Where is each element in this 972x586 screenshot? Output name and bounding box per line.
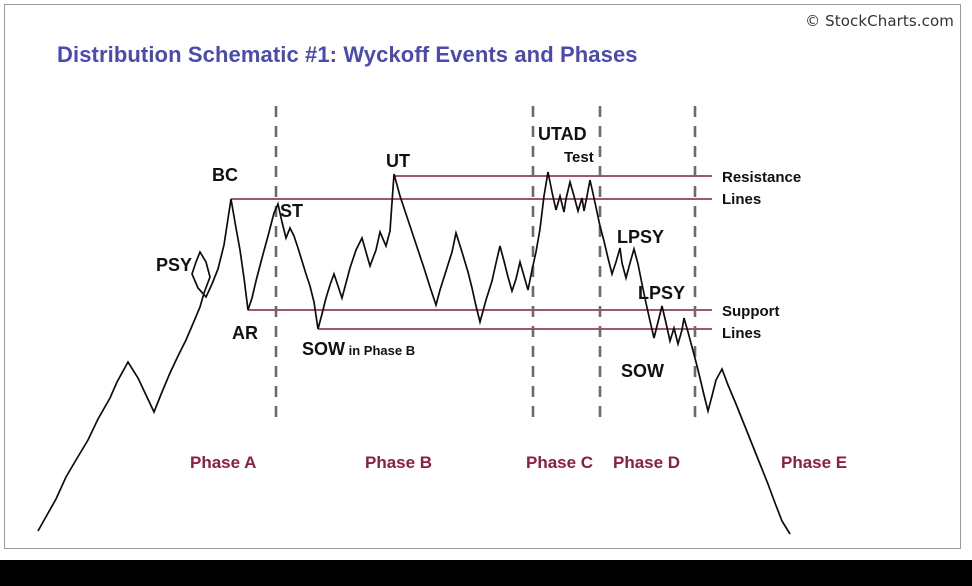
phase-label-e: Phase E bbox=[781, 453, 847, 472]
event-label-ar: AR bbox=[232, 323, 258, 343]
side-label-support: SupportLines bbox=[722, 303, 780, 342]
event-label-lpsy1: LPSY bbox=[617, 227, 664, 247]
phase-label-b: Phase B bbox=[365, 453, 432, 472]
sow-bold-part: SOW bbox=[302, 339, 345, 359]
support-resistance-lines bbox=[231, 176, 712, 329]
phase-labels: Phase APhase BPhase CPhase DPhase E bbox=[190, 453, 847, 472]
side-label-line1: Resistance bbox=[722, 169, 801, 186]
bottom-black-band bbox=[0, 560, 972, 586]
phase-label-c: Phase C bbox=[526, 453, 593, 472]
phase-label-d: Phase D bbox=[613, 453, 680, 472]
event-label-test: Test bbox=[564, 149, 594, 166]
sow-phase-part: in Phase B bbox=[345, 343, 415, 358]
event-label-sow-phase-b: SOW in Phase B bbox=[302, 339, 415, 359]
side-label-line2: Lines bbox=[722, 325, 761, 342]
event-label-psy: PSY bbox=[156, 255, 192, 275]
side-label-line1: Support bbox=[722, 303, 780, 320]
side-annotation-labels: ResistanceLinesSupportLines bbox=[722, 169, 801, 342]
event-label-st: ST bbox=[280, 201, 303, 221]
event-label-sow_d: SOW bbox=[621, 361, 664, 381]
phase-label-a: Phase A bbox=[190, 453, 256, 472]
event-label-lpsy2: LPSY bbox=[638, 283, 685, 303]
wyckoff-distribution-chart: PSYBCSTARUTUTADTestLPSYLPSYSOWSOW in Pha… bbox=[0, 0, 972, 586]
side-label-line2: Lines bbox=[722, 191, 761, 208]
event-label-bc: BC bbox=[212, 165, 238, 185]
event-labels: PSYBCSTARUTUTADTestLPSYLPSYSOWSOW in Pha… bbox=[156, 124, 685, 381]
side-label-resistance: ResistanceLines bbox=[722, 169, 801, 208]
event-label-utad: UTAD bbox=[538, 124, 587, 144]
schematic-page: © StockCharts.com Distribution Schematic… bbox=[0, 0, 972, 586]
event-label-ut: UT bbox=[386, 151, 410, 171]
